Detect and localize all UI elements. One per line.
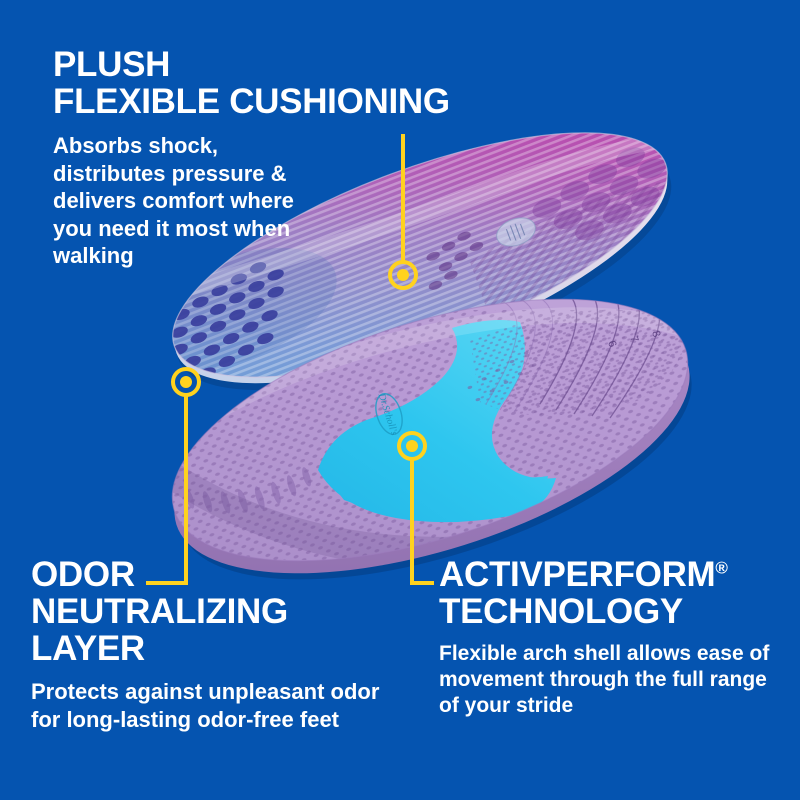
callout-cushioning-body: Absorbs shock, distributes pressure & de… <box>53 132 308 270</box>
callout-odor: ODOR NEUTRALIZING LAYER Protects against… <box>31 556 411 733</box>
callout-activperform: ACTIVPERFORM® TECHNOLOGY Flexible arch s… <box>439 556 784 719</box>
callout-activperform-heading: ACTIVPERFORM® TECHNOLOGY <box>439 556 784 630</box>
callout-odor-heading-line1: ODOR <box>31 555 135 594</box>
registered-trademark-icon: ® <box>715 558 727 577</box>
callout-cushioning-heading-line1: PLUSH <box>53 45 170 84</box>
callout-odor-heading: ODOR NEUTRALIZING LAYER <box>31 556 411 667</box>
callout-cushioning: PLUSH FLEXIBLE CUSHIONING Absorbs shock,… <box>53 46 523 270</box>
svg-text:10: 10 <box>691 319 706 334</box>
callout-odor-heading-line3: LAYER <box>31 629 145 668</box>
callout-activperform-heading-line1: ACTIVPERFORM <box>439 555 715 594</box>
callout-cushioning-heading: PLUSH FLEXIBLE CUSHIONING <box>53 46 523 120</box>
callout-activperform-body: Flexible arch shell allows ease of movem… <box>439 641 779 719</box>
callout-cushioning-heading-line2: FLEXIBLE CUSHIONING <box>53 82 450 121</box>
infographic-canvas: 6 7 8 9 10 <box>0 0 800 800</box>
callout-activperform-heading-line2: TECHNOLOGY <box>439 592 683 631</box>
callout-odor-body: Protects against unpleasant odor for lon… <box>31 678 391 733</box>
callout-odor-heading-line2: NEUTRALIZING <box>31 592 288 631</box>
